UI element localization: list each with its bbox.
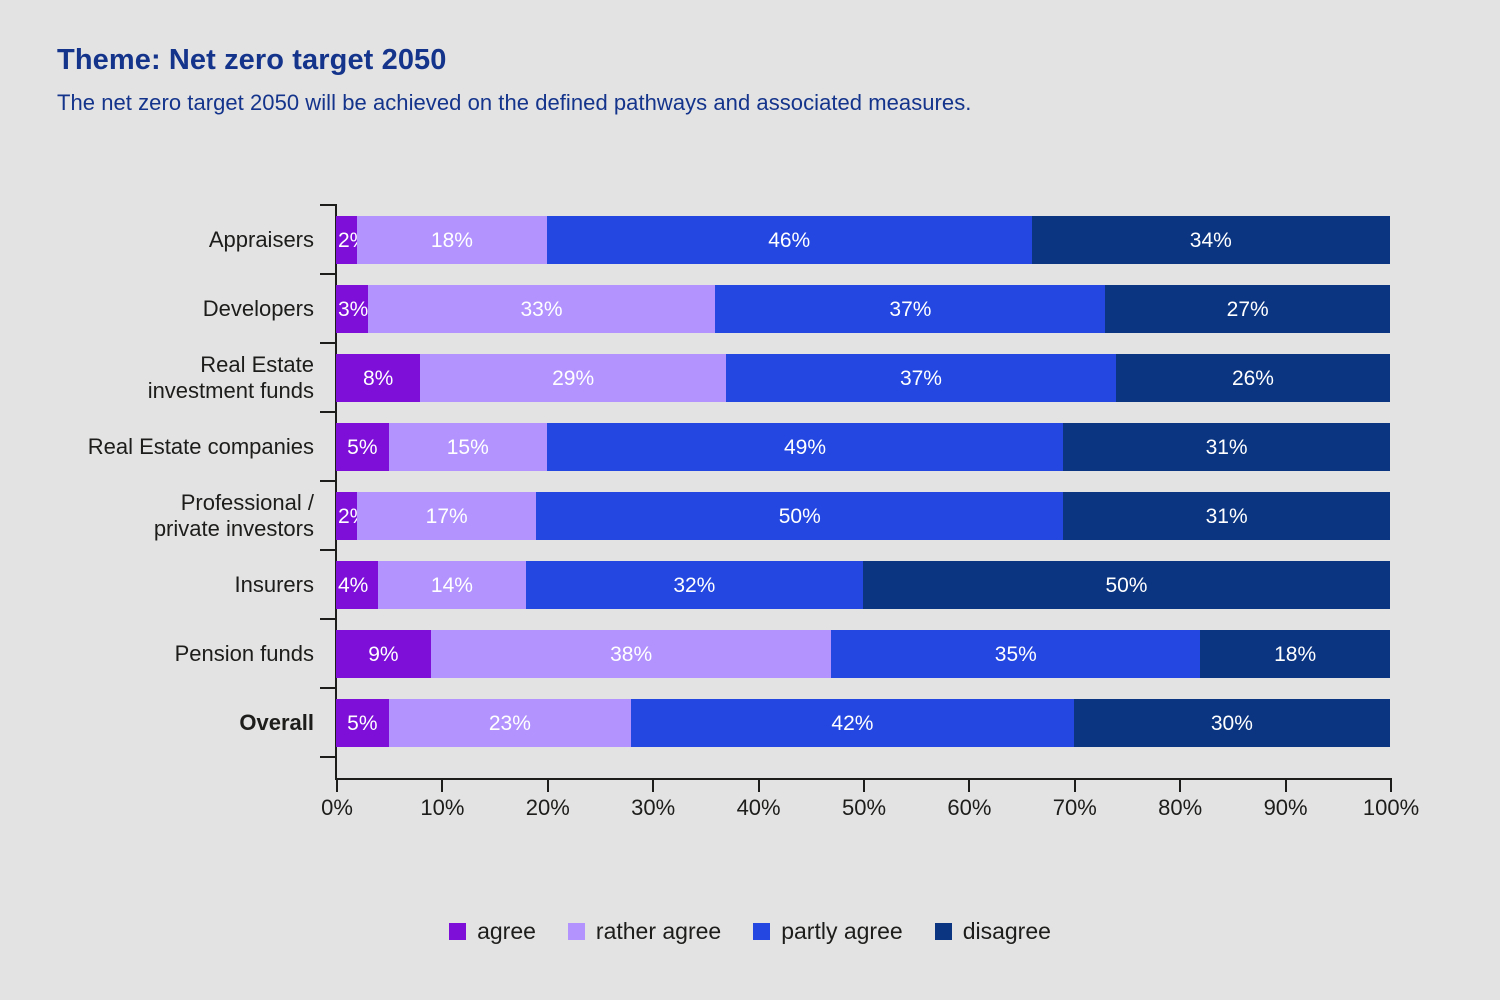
plot-area: 2%18%46%34%3%33%37%27%8%29%37%26%5%15%49… xyxy=(336,204,1390,772)
bar-segment-rather-agree[interactable]: 23% xyxy=(389,699,631,747)
bar-segment-agree[interactable]: 2% xyxy=(336,492,357,540)
x-axis-tick xyxy=(1390,778,1392,792)
x-axis-tick-label: 50% xyxy=(842,795,886,821)
bar-segment-value: 33% xyxy=(521,299,563,320)
bar-segment-partly-agree[interactable]: 46% xyxy=(547,216,1032,264)
legend-label: partly agree xyxy=(781,920,902,943)
bar-segment-value: 26% xyxy=(1232,368,1274,389)
y-axis-tick xyxy=(320,411,336,413)
chart-legend: agreerather agreepartly agreedisagree xyxy=(0,920,1500,943)
bar-segment-disagree[interactable]: 31% xyxy=(1063,423,1390,471)
bar-segment-partly-agree[interactable]: 50% xyxy=(536,492,1063,540)
bar-segment-agree[interactable]: 2% xyxy=(336,216,357,264)
legend-swatch-icon xyxy=(449,923,466,940)
bar-row: 2%17%50%31% xyxy=(336,492,1390,540)
legend-label: rather agree xyxy=(596,920,721,943)
bar-segment-rather-agree[interactable]: 17% xyxy=(357,492,536,540)
y-axis-tick xyxy=(320,480,336,482)
bar-segment-value: 5% xyxy=(347,437,377,458)
bar-segment-disagree[interactable]: 30% xyxy=(1074,699,1390,747)
x-axis-tick-label: 70% xyxy=(1053,795,1097,821)
bar-segment-disagree[interactable]: 31% xyxy=(1063,492,1390,540)
x-axis-tick xyxy=(652,778,654,792)
bar-segment-disagree[interactable]: 50% xyxy=(863,561,1390,609)
bar-row: 5%23%42%30% xyxy=(336,699,1390,747)
x-axis-tick xyxy=(758,778,760,792)
bar-segment-agree[interactable]: 4% xyxy=(336,561,378,609)
bar-segment-value: 17% xyxy=(426,506,468,527)
bar-segment-value: 31% xyxy=(1206,506,1248,527)
bar-segment-rather-agree[interactable]: 14% xyxy=(378,561,526,609)
legend-label: disagree xyxy=(963,920,1051,943)
legend-swatch-icon xyxy=(935,923,952,940)
legend-item-partly-agree[interactable]: partly agree xyxy=(753,920,902,943)
bar-segment-value: 31% xyxy=(1206,437,1248,458)
bar-row: 8%29%37%26% xyxy=(336,354,1390,402)
y-axis-tick xyxy=(320,549,336,551)
bar-row: 2%18%46%34% xyxy=(336,216,1390,264)
bar-segment-partly-agree[interactable]: 37% xyxy=(726,354,1116,402)
bar-segment-value: 50% xyxy=(1105,575,1147,596)
bar-segment-partly-agree[interactable]: 42% xyxy=(631,699,1074,747)
bar-row: 9%38%35%18% xyxy=(336,630,1390,678)
x-axis-tick xyxy=(1179,778,1181,792)
stacked-bar-chart: AppraisersDevelopersReal Estate investme… xyxy=(0,0,1500,1000)
bar-segment-rather-agree[interactable]: 15% xyxy=(389,423,547,471)
bar-segment-value: 35% xyxy=(995,644,1037,665)
legend-swatch-icon xyxy=(568,923,585,940)
bar-segment-disagree[interactable]: 26% xyxy=(1116,354,1390,402)
bar-segment-agree[interactable]: 5% xyxy=(336,423,389,471)
x-axis-tick-label: 80% xyxy=(1158,795,1202,821)
bar-segment-agree[interactable]: 5% xyxy=(336,699,389,747)
bar-segment-value: 3% xyxy=(338,299,368,320)
bar-segment-value: 4% xyxy=(338,575,368,596)
bar-segment-agree[interactable]: 3% xyxy=(336,285,368,333)
legend-item-rather-agree[interactable]: rather agree xyxy=(568,920,721,943)
y-axis-tick xyxy=(320,273,336,275)
bar-segment-rather-agree[interactable]: 38% xyxy=(431,630,832,678)
x-axis-tick-label: 20% xyxy=(526,795,570,821)
x-axis-tick xyxy=(547,778,549,792)
bar-segment-value: 46% xyxy=(768,230,810,251)
bar-segment-value: 9% xyxy=(368,644,398,665)
x-axis-tick-label: 100% xyxy=(1363,795,1419,821)
y-axis-tick xyxy=(320,756,336,758)
bar-segment-value: 50% xyxy=(779,506,821,527)
bar-segment-value: 42% xyxy=(831,713,873,734)
bar-segment-agree[interactable]: 9% xyxy=(336,630,431,678)
bar-segment-value: 49% xyxy=(784,437,826,458)
x-axis-tick-label: 60% xyxy=(947,795,991,821)
bar-segment-value: 15% xyxy=(447,437,489,458)
x-axis-tick-label: 40% xyxy=(737,795,781,821)
bar-segment-value: 32% xyxy=(673,575,715,596)
legend-label: agree xyxy=(477,920,536,943)
x-axis-tick xyxy=(336,778,338,792)
y-axis-label: Real Estate companies xyxy=(88,434,314,460)
x-axis-tick xyxy=(441,778,443,792)
bar-segment-rather-agree[interactable]: 33% xyxy=(368,285,716,333)
bar-segment-value: 18% xyxy=(1274,644,1316,665)
bar-segment-value: 27% xyxy=(1227,299,1269,320)
bar-segment-value: 29% xyxy=(552,368,594,389)
y-axis-label: Insurers xyxy=(235,572,314,598)
legend-item-agree[interactable]: agree xyxy=(449,920,536,943)
bar-segment-rather-agree[interactable]: 18% xyxy=(357,216,547,264)
legend-item-disagree[interactable]: disagree xyxy=(935,920,1051,943)
y-axis-label: Developers xyxy=(203,296,314,322)
bar-segment-value: 34% xyxy=(1190,230,1232,251)
x-axis-tick xyxy=(1285,778,1287,792)
bar-segment-value: 38% xyxy=(610,644,652,665)
bar-segment-rather-agree[interactable]: 29% xyxy=(420,354,726,402)
y-axis-tick xyxy=(320,618,336,620)
bar-segment-disagree[interactable]: 27% xyxy=(1105,285,1390,333)
x-axis-tick-label: 90% xyxy=(1264,795,1308,821)
bar-segment-value: 5% xyxy=(347,713,377,734)
y-axis-label: Appraisers xyxy=(209,227,314,253)
bar-segment-partly-agree[interactable]: 49% xyxy=(547,423,1063,471)
x-axis-tick xyxy=(863,778,865,792)
bar-segment-partly-agree[interactable]: 32% xyxy=(526,561,863,609)
bar-segment-agree[interactable]: 8% xyxy=(336,354,420,402)
y-axis-label: Overall xyxy=(239,710,314,736)
y-axis-tick xyxy=(320,342,336,344)
bar-segment-value: 37% xyxy=(889,299,931,320)
x-axis-tick-label: 0% xyxy=(321,795,353,821)
bar-segment-disagree[interactable]: 34% xyxy=(1032,216,1390,264)
y-axis-label: Professional / private investors xyxy=(154,490,314,541)
bar-segment-value: 23% xyxy=(489,713,531,734)
x-axis-tick-label: 10% xyxy=(420,795,464,821)
legend-swatch-icon xyxy=(753,923,770,940)
y-axis-label: Real Estate investment funds xyxy=(148,352,314,403)
bar-row: 3%33%37%27% xyxy=(336,285,1390,333)
bar-segment-value: 14% xyxy=(431,575,473,596)
x-axis-tick-label: 30% xyxy=(631,795,675,821)
bar-row: 5%15%49%31% xyxy=(336,423,1390,471)
bar-segment-value: 37% xyxy=(900,368,942,389)
bar-segment-partly-agree[interactable]: 37% xyxy=(715,285,1105,333)
bar-segment-value: 18% xyxy=(431,230,473,251)
x-axis-tick xyxy=(1074,778,1076,792)
bar-segment-disagree[interactable]: 18% xyxy=(1200,630,1390,678)
bar-segment-value: 8% xyxy=(363,368,393,389)
bar-row: 4%14%32%50% xyxy=(336,561,1390,609)
y-axis-tick xyxy=(320,687,336,689)
y-axis-tick xyxy=(320,204,336,206)
x-axis-tick xyxy=(968,778,970,792)
bar-segment-value: 30% xyxy=(1211,713,1253,734)
y-axis-label: Pension funds xyxy=(175,641,314,667)
bar-segment-partly-agree[interactable]: 35% xyxy=(831,630,1200,678)
